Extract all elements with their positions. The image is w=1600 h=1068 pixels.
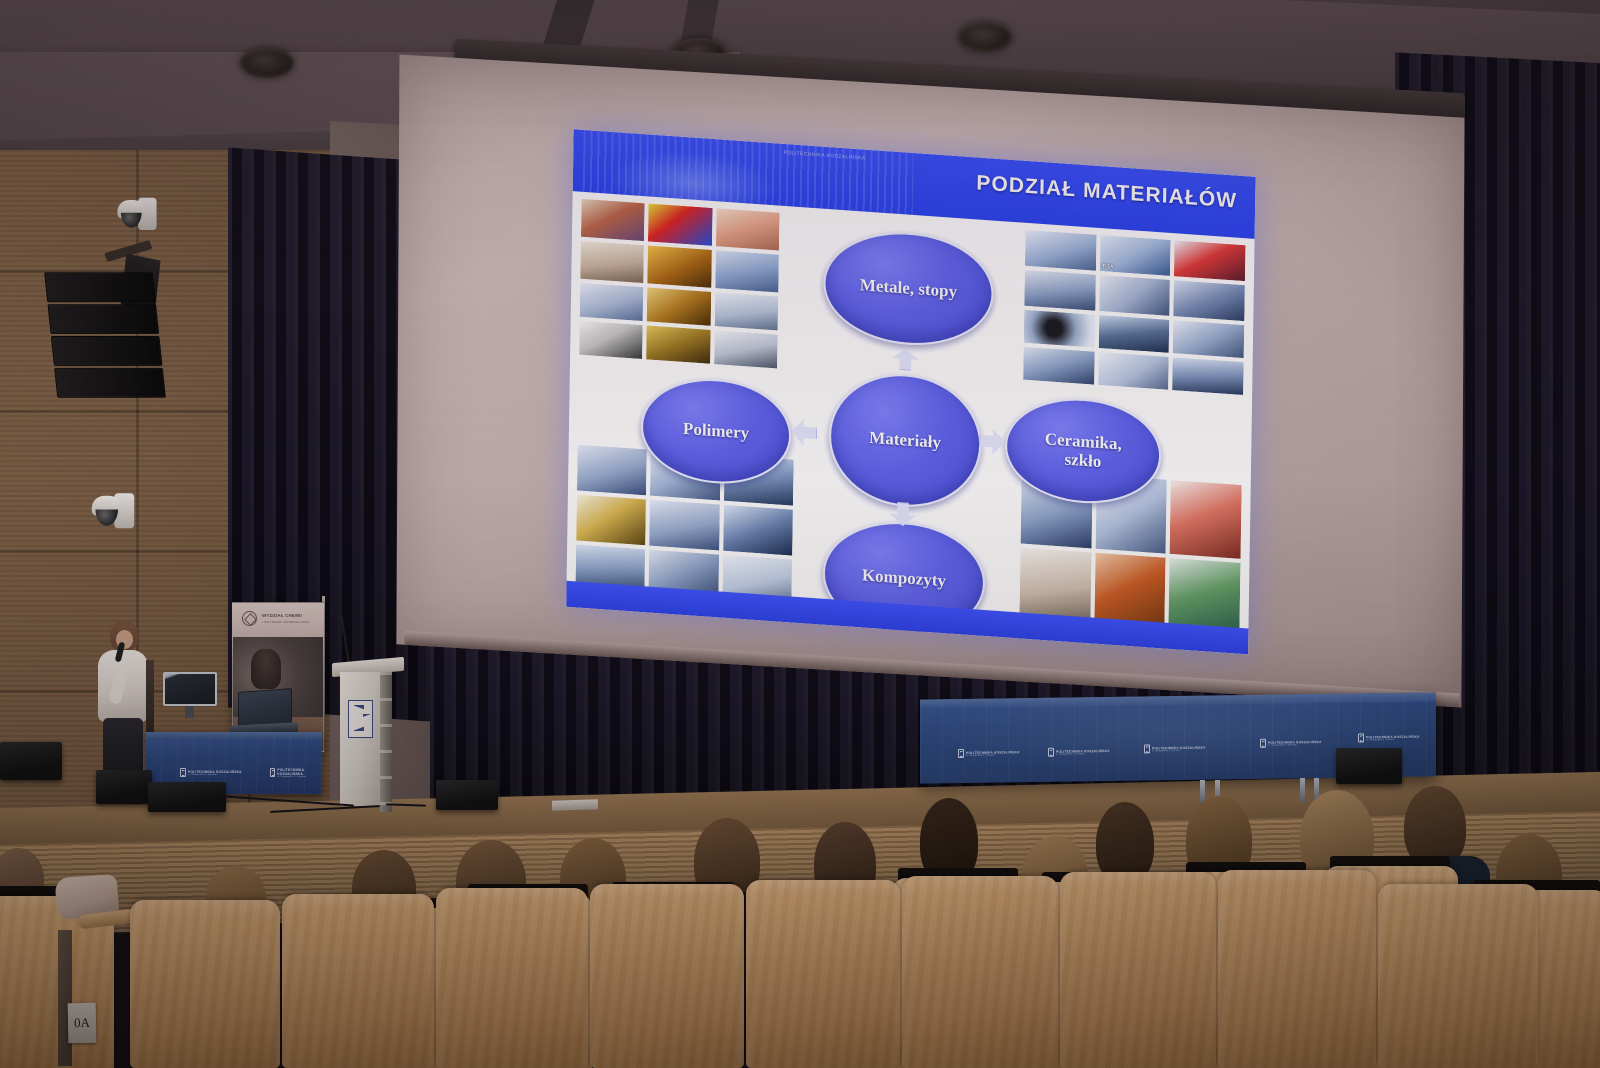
rollup-banner-title: WYDZIAŁ CHEMII: [262, 613, 302, 618]
arrow-up-icon: [892, 348, 918, 372]
lectern-rail: [380, 672, 392, 812]
stage-monitor-wedge: [148, 782, 226, 812]
projection-screen: POLITECHNIKA KOSZALIŃSKA PODZIAŁ MATERIA…: [396, 30, 1464, 703]
lecture-hall-scene: POLITECHNIKA KOSZALIŃSKA PODZIAŁ MATERIA…: [0, 0, 1600, 1068]
pk-logo: POLITECHNIKA KOSZALIŃSKA ul. Śniadeckich…: [1260, 738, 1322, 748]
row-label: 0A: [68, 1003, 97, 1043]
pk-logo-sub: ul. Śniadeckich 2, Koszalin: [277, 776, 322, 778]
stage-monitor-wedge: [96, 770, 152, 804]
node-label: Polimery: [683, 419, 749, 443]
pk-logo-title: POLITECHNIKA KOSZALIŃSKA: [1268, 739, 1322, 744]
stage-monitor-display: [163, 672, 217, 718]
ptz-camera-icon: [117, 198, 156, 233]
laptop[interactable]: [230, 690, 294, 736]
photo-collage-topright: F-14: [1023, 229, 1246, 322]
slide-title: PODZIAŁ MATERIAŁÓW: [976, 171, 1237, 213]
pk-logo-sub: ul. Śniadeckich 2, Koszalin: [1152, 749, 1206, 752]
photo-label-fighter-jet: F-14: [1103, 263, 1113, 270]
pk-monogram-icon: [348, 700, 373, 738]
stage-monitor-wedge: [1336, 748, 1402, 784]
arrow-left-icon: [791, 418, 817, 446]
pk-logo: POLITECHNIKA KOSZALIŃSKA ul. Śniadeckich…: [180, 768, 242, 777]
seat[interactable]: [590, 884, 744, 1068]
stage-monitor-wedge: [436, 780, 498, 810]
lectern-body: [340, 672, 380, 806]
downlight-icon: [240, 48, 294, 78]
seat[interactable]: [282, 894, 434, 1068]
pk-logo-title: POLITECHNIKA KOSZALIŃSKA: [188, 770, 242, 774]
seat[interactable]: [1060, 872, 1216, 1068]
pk-logo-sub: ul. Śniadeckich 2, Koszalin: [1366, 738, 1420, 741]
paper-sheet: [552, 799, 598, 811]
node-label: Ceramika, szkło: [1044, 429, 1122, 472]
node-label: Materiały: [869, 428, 941, 452]
pk-logo: POLITECHNIKA KOSZALIŃSKA ul. Śniadeckich…: [1048, 747, 1110, 757]
seat[interactable]: [436, 888, 588, 1068]
seat[interactable]: [746, 880, 900, 1068]
seat[interactable]: [1218, 870, 1376, 1068]
rollup-banner-subtitle: I INŻYNIERII MATERIAŁOWEJ: [262, 620, 310, 624]
pk-logo-title: POLITECHNIKA KOSZALIŃSKA: [1366, 734, 1420, 739]
pk-logo-sub: ul. Śniadeckich 2, Koszalin: [188, 774, 242, 776]
pk-logo: POLITECHNIKA KOSZALIŃSKA ul. Śniadeckich…: [270, 768, 322, 777]
pk-logo-sub: ul. Śniadeckich 2, Koszalin: [1268, 743, 1322, 746]
seat[interactable]: [1378, 884, 1538, 1068]
pk-logo: POLITECHNIKA KOSZALIŃSKA ul. Śniadeckich…: [958, 748, 1020, 758]
row-end-post: [58, 930, 72, 1066]
monitor-arm: [146, 660, 154, 738]
rollup-banner-header: WYDZIAŁ CHEMII I INŻYNIERII MATERIAŁOWEJ: [233, 603, 323, 637]
pk-logo: POLITECHNIKA KOSZALIŃSKA ul. Śniadeckich…: [1144, 744, 1206, 754]
pk-logo-title: POLITECHNIKA KOSZALIŃSKA: [1056, 748, 1110, 753]
pk-logo: POLITECHNIKA KOSZALIŃSKA ul. Śniadeckich…: [1358, 733, 1420, 743]
pk-logo-title: POLITECHNIKA KOSZALIŃSKA: [1152, 745, 1206, 750]
projected-slide: POLITECHNIKA KOSZALIŃSKA PODZIAŁ MATERIA…: [566, 129, 1255, 654]
stage-monitor-wedge: [0, 742, 62, 780]
lectern: [340, 660, 396, 810]
photo-collage-midleft: [578, 282, 779, 370]
flask-logo-icon: [242, 611, 257, 626]
pk-logo-title: POLITECHNIKA KOSZALIŃSKA: [277, 768, 322, 776]
photo-collage-topleft: [579, 198, 780, 294]
pk-logo-sub: ul. Śniadeckich 2, Koszalin: [966, 754, 1020, 757]
table-leg: [1300, 778, 1305, 802]
node-label: Kompozyty: [862, 566, 946, 591]
pk-logo-title: POLITECHNIKA KOSZALIŃSKA: [966, 750, 1020, 755]
line-array-speaker: [44, 272, 168, 416]
pk-logo-sub: ul. Śniadeckich 2, Koszalin: [1056, 752, 1110, 755]
ptz-camera-icon: [92, 493, 135, 531]
slide-body: F-14: [567, 191, 1255, 628]
downlight-icon: [958, 22, 1012, 52]
node-label: Metale, stopy: [860, 276, 958, 302]
photo-collage-midright: [1022, 309, 1245, 396]
node-materialy: Materiały: [828, 369, 982, 511]
node-metale-stopy: Metale, stopy: [823, 227, 995, 351]
node-label-line1: Ceramika,: [1045, 429, 1122, 453]
presenter: [92, 620, 154, 780]
arrow-right-icon: [979, 428, 1005, 456]
node-label-line2: szkło: [1064, 450, 1101, 472]
seat[interactable]: [130, 900, 280, 1068]
seat[interactable]: [902, 876, 1058, 1068]
